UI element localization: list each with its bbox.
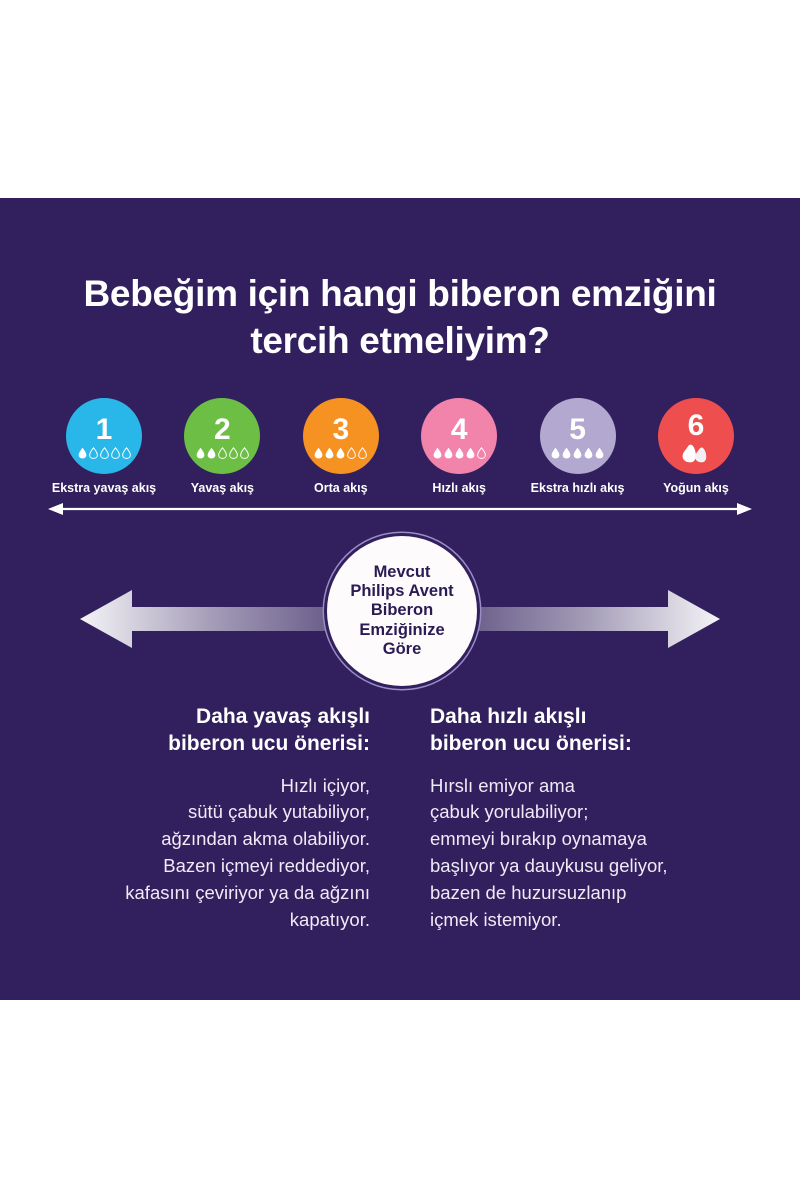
scale-item-3[interactable]: 3 Orta akış xyxy=(282,398,400,495)
drops-icon-2 xyxy=(196,446,249,459)
drops-icon-1 xyxy=(78,446,131,459)
scale-circle-5: 5 xyxy=(540,398,616,474)
faster-flow-column: Daha hızlı akışlıbiberon ucu önerisi: Hı… xyxy=(422,703,755,933)
scale-circle-1: 1 xyxy=(66,398,142,474)
scale-number-3: 3 xyxy=(332,415,349,445)
current-teat-center-badge: Mevcut Philips Avent Biberon Emziğinize … xyxy=(327,536,477,686)
slower-flow-column: Daha yavaş akışlıbiberon ucu önerisi: Hı… xyxy=(45,703,378,933)
faster-flow-heading-line2: biberon ucu önerisi: xyxy=(430,732,632,755)
faster-flow-heading-lead: Daha xyxy=(430,705,487,728)
scale-circle-2: 2 xyxy=(184,398,260,474)
drops-icon-4 xyxy=(433,446,486,459)
scale-item-2[interactable]: 2 Yavaş akış xyxy=(163,398,281,495)
scale-label-1: Ekstra yavaş akış xyxy=(52,481,156,495)
drops-icon-5 xyxy=(551,446,604,459)
scale-number-4: 4 xyxy=(451,415,468,445)
flow-scale-row: 1 Ekstra yavaş akış 2 Yavaş akış 3 Orta … xyxy=(45,398,755,495)
scale-label-5: Ekstra hızlı akış xyxy=(531,481,625,495)
scale-item-4[interactable]: 4 Hızlı akış xyxy=(400,398,518,495)
faster-flow-body: Hırslı emiyor ama çabuk yorulabiliyor; e… xyxy=(430,773,755,934)
scale-number-6: 6 xyxy=(688,411,705,441)
slower-flow-body: Hızlı içiyor, sütü çabuk yutabiliyor, ağ… xyxy=(45,773,370,934)
recommendation-columns: Daha yavaş akışlıbiberon ucu önerisi: Hı… xyxy=(45,703,755,933)
scale-number-1: 1 xyxy=(96,415,113,445)
scale-label-3: Orta akış xyxy=(314,481,368,495)
scale-label-2: Yavaş akış xyxy=(191,481,254,495)
slower-flow-heading: Daha yavaş akışlıbiberon ucu önerisi: xyxy=(45,703,370,758)
faster-flow-heading: Daha hızlı akışlıbiberon ucu önerisi: xyxy=(430,703,755,758)
faster-flow-heading-tail: akışlı xyxy=(528,705,586,728)
drops-icon-3 xyxy=(314,446,367,459)
scale-number-5: 5 xyxy=(569,415,586,445)
scale-item-1[interactable]: 1 Ekstra yavaş akış xyxy=(45,398,163,495)
scale-label-6: Yoğun akış xyxy=(663,481,729,495)
scale-circle-6: 6 xyxy=(658,398,734,474)
scale-number-2: 2 xyxy=(214,415,231,445)
infographic-panel: Bebeğim için hangi biberon emziğini terc… xyxy=(0,198,800,1000)
page-title: Bebeğim için hangi biberon emziğini terc… xyxy=(40,270,760,365)
scale-item-6[interactable]: 6 Yoğun akış xyxy=(637,398,755,495)
faster-flow-heading-emphasis: hızlı xyxy=(487,705,528,728)
slower-flow-heading-line1: Daha yavaş akışlı xyxy=(196,705,370,728)
flow-range-arrow xyxy=(48,501,752,517)
center-badge-text: Mevcut Philips Avent Biberon Emziğinize … xyxy=(344,563,459,659)
scale-item-5[interactable]: 5 Ekstra hızlı akış xyxy=(519,398,637,495)
scale-label-4: Hızlı akış xyxy=(432,481,486,495)
slower-flow-heading-line2: biberon ucu önerisi: xyxy=(168,732,370,755)
thick-feed-blob-icon xyxy=(681,443,711,463)
scale-circle-3: 3 xyxy=(303,398,379,474)
scale-circle-4: 4 xyxy=(421,398,497,474)
